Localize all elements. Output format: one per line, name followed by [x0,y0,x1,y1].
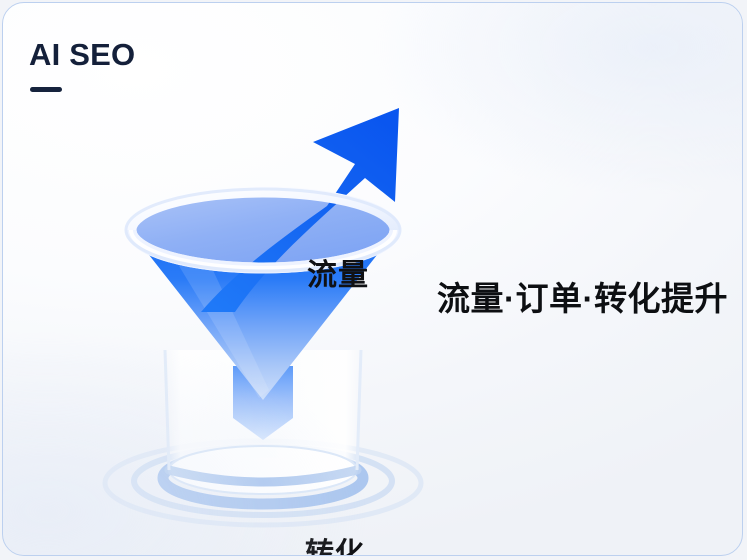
label-conversion: 转化 [305,530,365,556]
screenshot-root: AI SEO 流量·订单·转化提升 [0,0,747,560]
title-underline-rule [30,87,62,92]
illustration-card: AI SEO 流量·订单·转化提升 [2,2,743,556]
funnel-illustration: 流量 转化 [83,98,443,528]
page-title: AI SEO [29,39,135,70]
label-traffic: 流量 [307,250,369,294]
headline-text: 流量·订单·转化提升 [437,280,728,318]
